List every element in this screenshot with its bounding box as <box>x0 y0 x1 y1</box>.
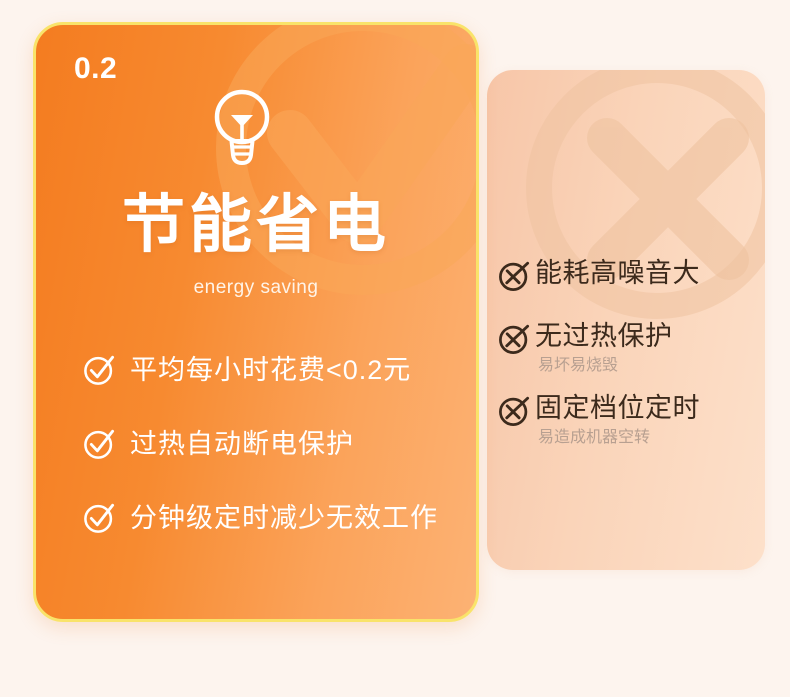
pro-item-text: 平均每小时花费<0.2元 <box>130 353 411 387</box>
list-item: 固定档位定时 易造成机器空转 <box>495 391 755 450</box>
cross-circle-icon <box>497 259 531 293</box>
check-circle-icon <box>82 501 116 535</box>
pro-card-title: 节能省电 <box>36 185 476 265</box>
con-list: 能耗高噪音大 无过热保护 易坏易烧毁 <box>495 256 755 463</box>
comparison-panel: 能耗高噪音大 无过热保护 易坏易烧毁 <box>0 0 790 697</box>
con-item-title: 能耗高噪音大 <box>535 256 700 290</box>
con-item-subtitle: 易坏易烧毁 <box>538 354 673 378</box>
con-item-subtitle: 易造成机器空转 <box>538 426 700 450</box>
pro-list: 平均每小时花费<0.2元 过热自动断电保护 分钟级定时减少无效工作 <box>82 353 456 535</box>
con-item-title: 无过热保护 <box>535 319 673 353</box>
pro-card: 0.2 节能省电 energy saving 平均每小时花费<0.2元 <box>33 22 479 622</box>
cross-circle-icon <box>497 322 531 356</box>
list-item: 分钟级定时减少无效工作 <box>82 501 456 535</box>
check-circle-icon <box>82 427 116 461</box>
con-card: 能耗高噪音大 无过热保护 易坏易烧毁 <box>487 70 765 570</box>
price-badge: 0.2 <box>74 51 117 87</box>
con-item-title: 固定档位定时 <box>535 391 700 425</box>
list-item: 平均每小时花费<0.2元 <box>82 353 456 387</box>
list-item: 过热自动断电保护 <box>82 427 456 461</box>
cross-circle-icon <box>497 394 531 428</box>
list-item: 能耗高噪音大 <box>495 256 755 293</box>
lightbulb-icon <box>206 87 278 169</box>
lightbulb-wrap <box>36 87 476 169</box>
check-circle-icon <box>82 353 116 387</box>
pro-card-subtitle: energy saving <box>36 275 476 301</box>
pro-item-text: 分钟级定时减少无效工作 <box>130 501 438 535</box>
pro-item-text: 过热自动断电保护 <box>130 427 354 461</box>
list-item: 无过热保护 易坏易烧毁 <box>495 319 755 378</box>
